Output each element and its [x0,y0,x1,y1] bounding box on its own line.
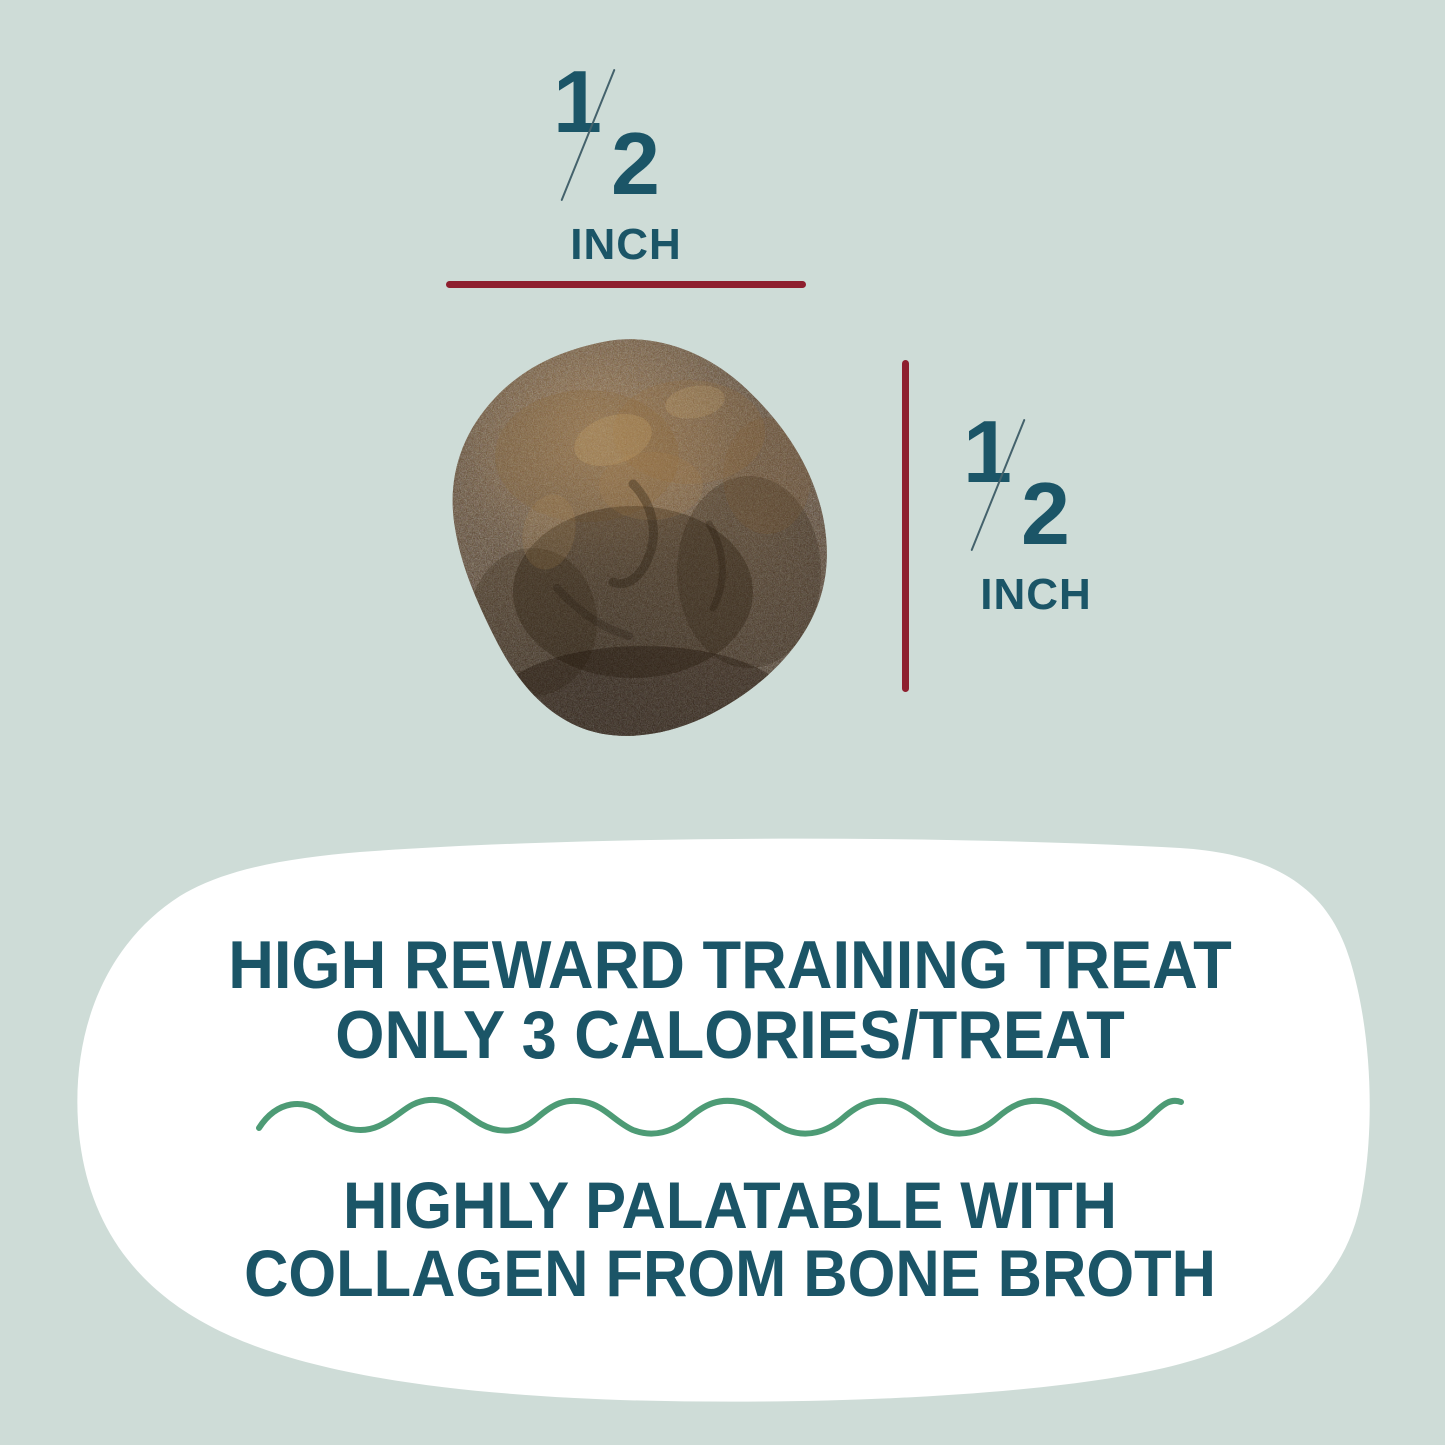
height-ruler-line [902,360,909,692]
subheadline-line-1: HIGHLY PALATABLE WITH [153,1172,1306,1240]
width-ruler-line [446,281,806,288]
height-unit-label: INCH [957,573,1115,617]
fraction-numerator: 1 [963,408,1010,496]
width-measurement-label: 1 2 INCH [545,58,705,267]
product-infographic: 1 2 INCH [0,0,1445,1445]
headline-line-1: HIGH REWARD TRAINING TREAT [153,930,1306,1000]
width-unit-label: INCH [547,223,705,267]
headline-line-2: ONLY 3 CALORIES/TREAT [153,1000,1306,1070]
fraction-one-half-height: 1 2 [955,408,1105,563]
subheadline-line-2: COLLAGEN FROM BONE BROTH [153,1240,1306,1308]
callout-secondary-text: HIGHLY PALATABLE WITH COLLAGEN FROM BONE… [110,1172,1350,1308]
fraction-denominator: 2 [611,120,658,208]
callout-primary-text: HIGH REWARD TRAINING TREAT ONLY 3 CALORI… [110,930,1350,1070]
wavy-divider-icon [255,1088,1185,1150]
dog-treat-kibble-image [437,336,849,744]
height-measurement-label: 1 2 INCH [955,408,1115,617]
fraction-numerator: 1 [553,58,600,146]
fraction-one-half-width: 1 2 [545,58,695,213]
fraction-denominator: 2 [1021,470,1068,558]
